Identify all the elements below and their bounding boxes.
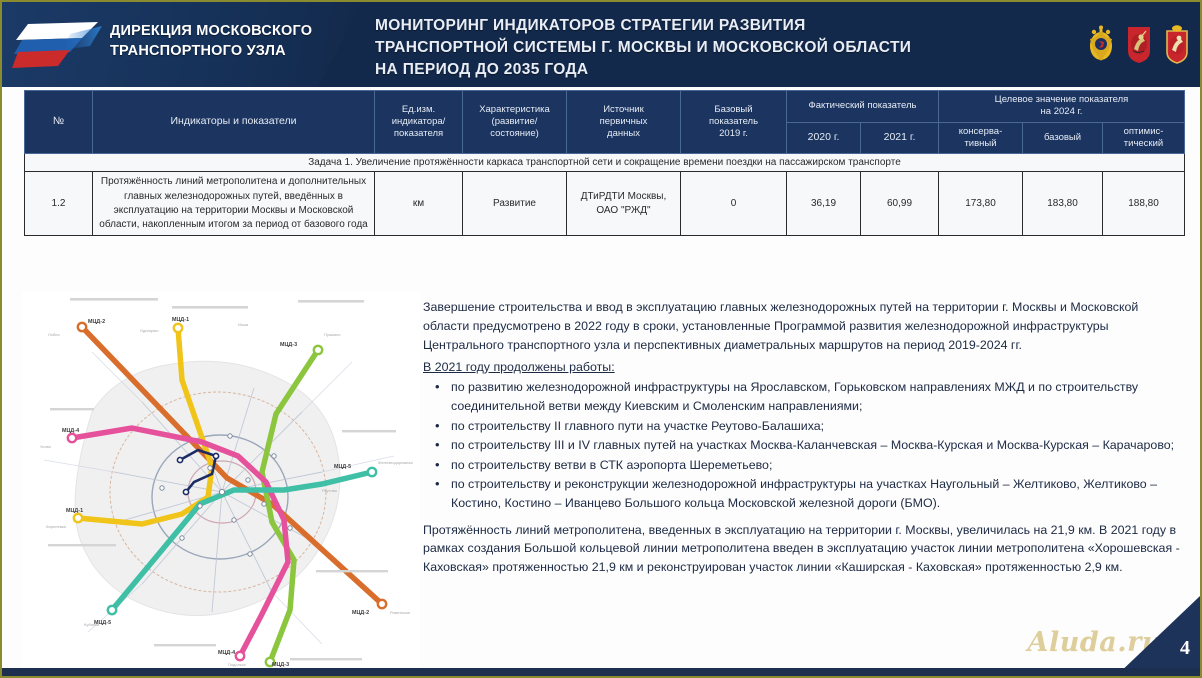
cell-indicator: Протяжённость линий метрополитена и допо… [93,172,375,236]
th-unit: Ед.изм. индикатора/ показателя [375,91,463,154]
intro-paragraph: Завершение строительства и ввод в эксплу… [423,298,1185,355]
indicators-table-container: № Индикаторы и показатели Ед.изм. индика… [24,90,1184,236]
map-label-mcd-1-n: МЦД-1 [172,317,189,323]
cell-actual-2021: 60,99 [861,172,939,236]
page-title-line1: МОНИТОРИНГ ИНДИКАТОРОВ СТРАТЕГИИ РАЗВИТИ… [375,15,1025,37]
indicators-table: № Индикаторы и показатели Ед.изм. индика… [24,90,1185,236]
th-indicators: Индикаторы и показатели [93,91,375,154]
svg-text:Лобня: Лобня [48,332,60,337]
bottom-bar [2,668,1202,676]
cell-source-line1: ДТиРДТИ Москвы, [571,190,676,204]
coat-of-arms-moscow-icon [1126,25,1152,65]
th-character-line1: Характеристика [465,104,564,116]
svg-text:Пушкино: Пушкино [324,332,341,337]
summary-paragraph: Протяжённость линий метрополитена, введе… [423,521,1185,578]
mcd-1-terminus-sw [74,514,82,522]
cell-number: 1.2 [25,172,93,236]
map-label-mcd-4-w: МЦД-4 [62,428,79,434]
task-row-label: Задача 1. Увеличение протяжённости карка… [25,154,1185,172]
page-title: МОНИТОРИНГ ИНДИКАТОРОВ СТРАТЕГИИ РАЗВИТИ… [375,15,1025,81]
mcd-4-terminus-s [236,652,244,660]
cell-target-optimistic: 188,80 [1103,172,1185,236]
list-item: по строительству ветви в СТК аэропорта Ш… [423,456,1185,475]
bkl-station-1 [177,457,182,462]
mcd-network-map: МЦД-2 МЦД-1 МЦД-3 МЦД-4 МЦД-1 МЦД-5 МЦД-… [22,292,420,670]
cell-actual-2020: 36,19 [787,172,861,236]
mcd-5-terminus-sw [108,606,116,614]
cell-source: ДТиРДТИ Москвы, ОАО "РЖД" [567,172,681,236]
page-title-line2: ТРАНСПОРТНОЙ СИСТЕМЫ Г. МОСКВЫ И МОСКОВС… [375,37,1025,59]
map-label-mcd-2-nw: МЦД-2 [88,319,105,325]
bkl-station-2 [213,453,218,458]
page-title-line3: НА ПЕРИОД ДО 2035 ГОДА [375,59,1025,81]
table-row: 1.2 Протяжённость линий метрополитена и … [25,172,1185,236]
map-label-mcd-4-s: МЦД-4 [218,650,235,656]
works-bullet-list: по развитию железнодорожной инфраструкту… [423,378,1185,512]
svg-text:Усово: Усово [40,444,52,449]
mcd-4-terminus-w [68,434,76,442]
svg-text:Реутово: Реутово [322,488,338,493]
organization-name-line2: ТРАНСПОРТНОГО УЗЛА [110,42,312,62]
mcd-1-terminus-n [174,324,182,332]
map-label-mcd-2-se: МЦД-2 [352,610,369,616]
th-actual-2020: 2020 г. [787,122,861,154]
page-number: 4 [1180,637,1190,660]
th-base-line2: показатель [683,116,784,128]
th-source-line2: первичных [569,116,678,128]
svg-text:Икша: Икша [238,322,249,327]
th-target-optimistic-line2: тический [1105,138,1182,150]
th-target-group: Целевое значение показателя на 2024 г. [939,91,1185,123]
svg-text:Раменское: Раменское [390,610,411,615]
svg-text:Железнодорожная: Железнодорожная [378,460,413,465]
th-actual-group: Фактический показатель [787,91,939,123]
map-label-mcd-5-ne: МЦД-5 [334,464,351,470]
list-item: по развитию железнодорожной инфраструкту… [423,378,1185,415]
svg-text:Апрелевка: Апрелевка [46,524,67,529]
svg-text:Одинцово: Одинцово [140,328,159,333]
th-target-optimistic-line1: оптимис- [1105,126,1182,138]
th-unit-line1: Ед.изм. [377,104,460,116]
map-label-mcd-1-sw: МЦД-1 [66,508,83,514]
coat-of-arms-moscow-oblast-icon [1164,25,1190,65]
mcd-2-terminus-nw [78,323,86,331]
list-item: по строительству и реконструкции железно… [423,475,1185,512]
th-target-group-line2: на 2024 г. [941,106,1182,118]
th-target-base: базовый [1023,122,1103,154]
th-target-conservative-line2: тивный [941,138,1020,150]
bkl-station-3 [183,489,188,494]
russian-flag-logo-icon [12,16,104,72]
th-unit-line2: индикатора/ [377,116,460,128]
th-actual-2021: 2021 г. [861,122,939,154]
slide-header: ДИРЕКЦИЯ МОСКОВСКОГО ТРАНСПОРТНОГО УЗЛА … [2,2,1202,87]
th-target-group-line1: Целевое значение показателя [941,94,1182,106]
mcd-5-terminus-ne [368,468,376,476]
works-lead-line: В 2021 году продолжены работы: [423,358,1185,377]
th-base-line3: 2019 г. [683,128,784,140]
th-source: Источник первичных данных [567,91,681,154]
th-target-optimistic: оптимис- тический [1103,122,1185,154]
list-item: по строительству II главного пути на уча… [423,417,1185,436]
cell-target-conservative: 173,80 [939,172,1023,236]
svg-text:Подольск: Подольск [228,662,246,667]
th-character-line3: состояние) [465,128,564,140]
th-target-conservative-line1: консерва- [941,126,1020,138]
cell-character: Развитие [463,172,567,236]
cell-base-2019: 0 [681,172,787,236]
slide-root: ДИРЕКЦИЯ МОСКОВСКОГО ТРАНСПОРТНОГО УЗЛА … [0,0,1202,678]
th-base-2019: Базовый показатель 2019 г. [681,91,787,154]
organization-name-line1: ДИРЕКЦИЯ МОСКОВСКОГО [110,22,312,42]
th-base-line1: Базовый [683,104,784,116]
mcd-2-terminus-se [378,600,386,608]
coat-of-arms-russia-icon [1088,25,1114,65]
th-source-line1: Источник [569,104,678,116]
cell-unit: км [375,172,463,236]
th-character: Характеристика (развитие/ состояние) [463,91,567,154]
list-item: по строительству III и IV главных путей … [423,436,1185,455]
th-character-line2: (развитие/ [465,116,564,128]
cell-target-base: 183,80 [1023,172,1103,236]
map-label-mcd-3-ne: МЦД-3 [280,342,297,348]
th-target-conservative: консерва- тивный [939,122,1023,154]
mcd-3-terminus-ne [314,346,322,354]
narrative-text: Завершение строительства и ввод в эксплу… [423,298,1185,670]
th-unit-line3: показателя [377,128,460,140]
table-task-row: Задача 1. Увеличение протяжённости карка… [25,154,1185,172]
cell-source-line2: ОАО "РЖД" [571,204,676,218]
svg-text:Кубинка: Кубинка [84,622,100,627]
th-number: № [25,91,93,154]
emblems-group [1088,16,1190,74]
th-source-line3: данных [569,128,678,140]
mcd-network-map-svg: МЦД-2 МЦД-1 МЦД-3 МЦД-4 МЦД-1 МЦД-5 МЦД-… [22,292,420,670]
organization-name: ДИРЕКЦИЯ МОСКОВСКОГО ТРАНСПОРТНОГО УЗЛА [110,22,312,61]
table-header-row-1: № Индикаторы и показатели Ед.изм. индика… [25,91,1185,123]
